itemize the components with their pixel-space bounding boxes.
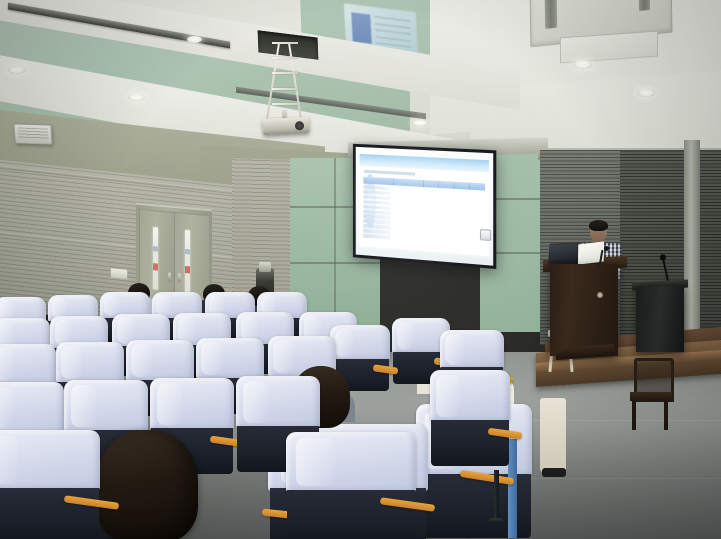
wall-speaker (13, 123, 52, 144)
chair-lower-back (287, 490, 414, 539)
projection-screen (353, 144, 496, 269)
attendee-trousers (540, 398, 566, 472)
podium-microphone (604, 246, 609, 251)
podium-knob (597, 292, 603, 298)
downlight-7 (413, 120, 427, 126)
chair-seat-cover (286, 432, 416, 492)
chair-seat-cover (126, 340, 194, 381)
projector-lens (295, 121, 304, 130)
slide-table-rows (363, 185, 391, 239)
downlight-1 (8, 66, 26, 74)
chair-side-4[interactable] (430, 370, 510, 466)
chair-front-1[interactable] (286, 432, 416, 539)
chair-seat-cover (0, 430, 100, 490)
downlight-2 (128, 94, 145, 101)
chair-seat-cover (0, 344, 56, 385)
downlight-5 (573, 60, 592, 69)
chair-leg-post (494, 470, 499, 522)
downlight-6 (637, 89, 655, 97)
slide-table-row (363, 234, 391, 239)
wall-switch-plate (110, 267, 128, 280)
slide-breadcrumb (365, 170, 416, 177)
chair-seat-cover (150, 378, 234, 430)
chair-seat-cover (196, 338, 264, 379)
speaking-podium (550, 264, 618, 356)
chair-lower-back (0, 488, 99, 539)
chair-seat-cover (430, 370, 510, 422)
door-handle-left[interactable] (168, 272, 171, 281)
chair-seat-cover (440, 330, 504, 369)
door-handle-right[interactable] (178, 273, 181, 282)
ceiling-projector (263, 117, 310, 135)
door-glass-left (153, 227, 158, 289)
chair-seat-cover (236, 376, 320, 428)
equipment-rack (636, 286, 684, 352)
projector-scissor-lift (272, 42, 298, 120)
projection-screen-surface (356, 147, 493, 266)
slide-scroll-button[interactable] (480, 229, 491, 242)
chair-seat-cover (0, 382, 64, 434)
conference-room-photo (0, 0, 721, 539)
chair-seat-cover (56, 342, 124, 383)
wooden-side-chair (628, 358, 672, 430)
chair-seat-cover (64, 380, 148, 432)
podium-laptop[interactable] (548, 242, 580, 265)
projected-slide (360, 153, 489, 256)
chair-seat-cover (330, 325, 390, 361)
downlight-4 (187, 36, 202, 43)
presenter-hair (589, 220, 608, 231)
attendee-shoe (542, 468, 566, 477)
chair-lower-back (431, 420, 509, 466)
door-glass-right (185, 230, 190, 292)
wall-base-decor-top (259, 262, 271, 272)
chair-front-2[interactable] (0, 430, 100, 539)
wall-pillar (684, 140, 700, 355)
chair-floor-mount (489, 518, 503, 523)
